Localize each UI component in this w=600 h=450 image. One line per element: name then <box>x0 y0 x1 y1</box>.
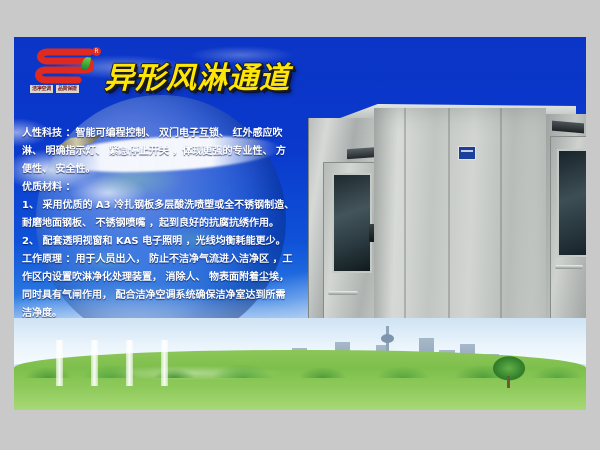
tree-icon <box>489 354 529 388</box>
column <box>126 340 133 386</box>
door-handle-right <box>555 265 583 269</box>
air-vent-icon <box>347 147 381 159</box>
copy-line: 人性科技 ：智能可编程控制、 双门电子互锁、 红外感应吹 <box>22 125 300 143</box>
column <box>161 340 168 386</box>
frame-bottom <box>0 410 600 450</box>
logo-badge-0: 洁净空调 <box>30 85 53 93</box>
door-window-left <box>332 173 372 273</box>
body-copy: 人性科技 ：智能可编程控制、 双门电子互锁、 红外感应吹 淋、 明确指示灯、 紧… <box>22 125 300 341</box>
page-title: 异形风淋通道 <box>104 53 290 97</box>
cabin-right-face <box>546 114 586 352</box>
company-logo: R 洁净空调 品質保證 <box>30 45 112 101</box>
airplane-icon <box>429 153 464 170</box>
registered-trademark-icon: R <box>92 47 101 56</box>
logo-badge-1: 品質保證 <box>56 85 79 93</box>
frame-right <box>586 0 600 450</box>
copy-line: 同时具有气闸作用， 配合洁净空调系统确保洁净室达到所需 <box>22 287 300 305</box>
door-handle-left <box>328 291 358 295</box>
logo-subtitle: 洁净空调 品質保證 <box>30 85 79 93</box>
white-columns <box>48 340 242 386</box>
cabin-door-right <box>550 136 586 344</box>
frame-left <box>0 0 14 450</box>
cabin-left-face <box>308 118 375 350</box>
column <box>91 340 98 386</box>
copy-line: 作区内设置吹淋净化处理装置， 消除人、 物表面附着尘埃， <box>22 269 300 287</box>
product-label-badge <box>458 146 476 160</box>
panel-seam <box>448 108 450 352</box>
door-window-right <box>557 149 586 257</box>
copy-line: 工作原理 ：用于人员出入， 防止不洁净气流进入洁净区 ，工 <box>22 251 300 269</box>
control-panel <box>369 224 377 242</box>
copy-line: 优质材料 ： <box>22 179 300 197</box>
panel-seam <box>404 108 406 352</box>
copy-line: 淋、 明确指示灯、 紧急停止开关 ，体现更强的专业性、 方 <box>22 143 300 161</box>
landscape-footer <box>14 318 586 410</box>
product-poster: R 洁净空调 品質保證 异形风淋通道 人性科技 ：智能可编程控制、 双门电子互锁… <box>14 37 586 410</box>
panel-seam <box>500 108 502 352</box>
copy-line: 2、 配套透明视窗和 KAS 电子照明 ，光线均衡耗能更少。 <box>22 233 300 251</box>
copy-line: 1、 采用优质的 A3 冷扎钢板多层酸洗喷塑或全不锈钢制造、 <box>22 197 300 215</box>
cabin-roof <box>308 104 576 124</box>
air-vent-right-icon <box>552 121 584 134</box>
column <box>56 340 63 386</box>
copy-line: 便性、 安全性。 <box>22 161 300 179</box>
screenshot-root: R 洁净空调 品質保證 异形风淋通道 人性科技 ：智能可编程控制、 双门电子互锁… <box>0 0 600 450</box>
frame-top <box>0 0 600 37</box>
cabin-front-face <box>374 108 546 352</box>
copy-line: 耐磨地面钢板、 不锈钢喷嘴 ，起到良好的抗腐抗绣作用。 <box>22 215 300 233</box>
